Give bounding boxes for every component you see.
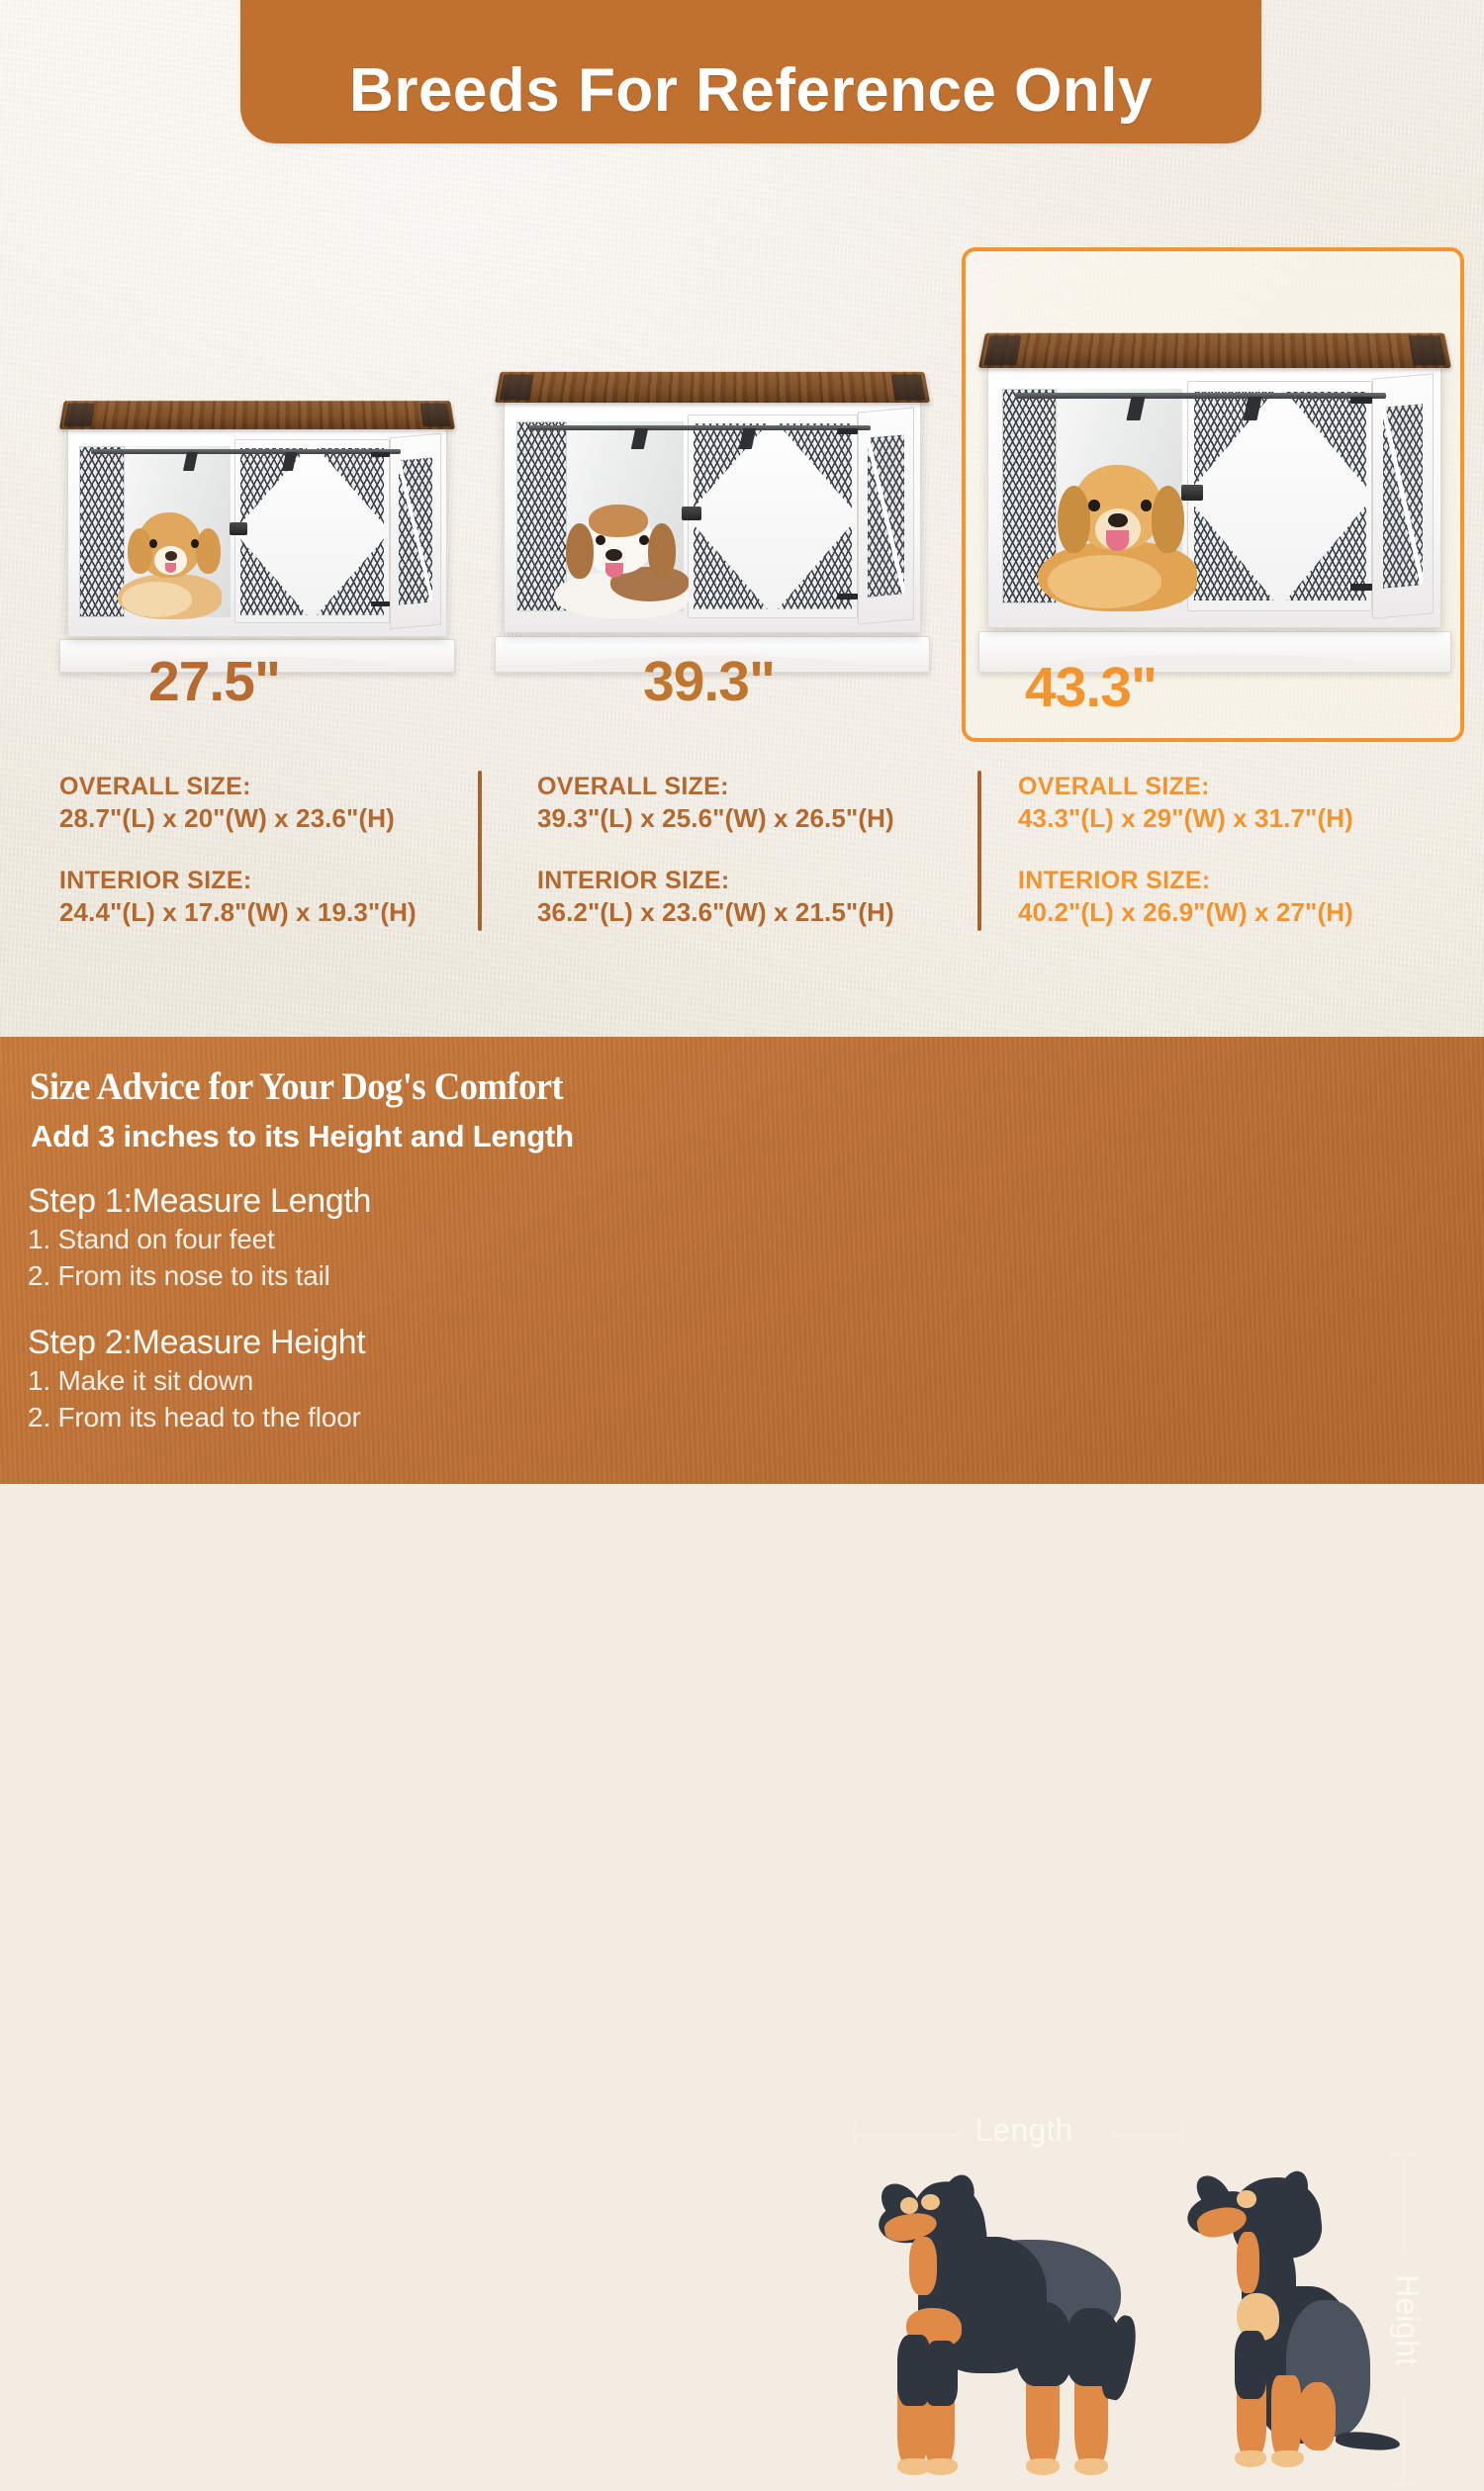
hinge-icon [1350,397,1373,403]
step-1-line-1: 1. Stand on four feet [28,1221,371,1257]
overall-size-title-2: OVERALL SIZE: [1018,772,1353,802]
dog-photo-beagle [554,503,696,618]
interior-size-dims-2: 40.2"(L) x 26.9"(W) x 27"(H) [1018,896,1353,928]
product-size-comparison-row [0,247,1484,673]
product-card-1[interactable] [490,247,935,673]
wood-tabletop-icon [59,401,455,428]
side-end-door [390,433,441,629]
barn-door-rail [91,449,401,454]
doberman-sitting-illustration [1162,2150,1410,2491]
dog-crate-illustration-1 [495,366,930,673]
mesh-quadrant [240,539,308,615]
mesh-quadrant [694,524,768,608]
size-label-1: 39.3" [643,649,775,714]
overall-size-dims-0: 28.7"(L) x 20"(W) x 23.6"(H) [59,802,417,834]
side-end-door [858,408,914,625]
mesh-quadrant [778,423,852,507]
mesh-quadrant [1285,392,1366,488]
latch-icon [230,522,248,535]
advice-subtitle: Add 3 inches to its Height and Length [31,1119,574,1154]
hinge-icon [1350,584,1373,590]
mesh-quadrant [694,423,768,507]
spec-block-0: OVERALL SIZE: 28.7"(L) x 20"(W) x 23.6"(… [59,772,417,928]
overall-size-title-1: OVERALL SIZE: [537,772,894,802]
dog-photo-small [118,510,232,619]
product-card-0[interactable] [40,247,475,673]
dog-photo-golden-retriever [1038,465,1200,611]
spec-divider-0 [478,771,482,931]
advice-title: Size Advice for Your Dog's Comfort [30,1064,563,1109]
dimension-line [1111,2133,1182,2136]
side-end-door [1372,373,1434,618]
dimension-line [855,2133,962,2136]
mesh-quadrant [1194,506,1275,601]
mesh-quadrant [240,448,308,524]
sliding-barn-door [688,415,858,618]
interior-size-dims-0: 24.4"(L) x 17.8"(W) x 19.3"(H) [59,896,417,928]
dog-crate-illustration-0 [59,396,455,673]
hinge-icon [837,428,858,434]
product-card-2[interactable] [970,247,1459,673]
interior-size-dims-1: 36.2"(L) x 23.6"(W) x 21.5"(H) [537,896,894,928]
header-banner: Breeds For Reference Only [240,0,1261,143]
crate-body [504,400,921,633]
interior-size-title-1: INTERIOR SIZE: [537,866,894,896]
barn-door-rail [1015,393,1386,399]
step-2-line-1: 1. Make it sit down [28,1362,365,1399]
step-2-line-2: 2. From its head to the floor [28,1399,365,1435]
advice-step-1: Step 1:Measure Length 1. Stand on four f… [28,1182,371,1294]
wood-tabletop-icon [495,372,930,403]
size-label-0: 27.5" [148,649,280,714]
overall-size-dims-2: 43.3"(L) x 29"(W) x 31.7"(H) [1018,802,1353,834]
length-dimension-guide: Length [853,2121,1184,2157]
diagonal-brace [1383,404,1424,589]
mesh-quadrant [1194,392,1275,488]
spec-block-2: OVERALL SIZE: 43.3"(L) x 29"(W) x 31.7"(… [1018,772,1353,928]
interior-size-title-0: INTERIOR SIZE: [59,866,417,896]
interior-size-title-2: INTERIOR SIZE: [1018,866,1353,896]
length-label: Length [970,2112,1078,2149]
spec-block-1: OVERALL SIZE: 39.3"(L) x 25.6"(W) x 26.5… [537,772,894,928]
sliding-barn-door [1187,381,1372,610]
dimension-endcap-icon [1181,2121,1184,2147]
hinge-icon [837,594,858,600]
overall-size-title-0: OVERALL SIZE: [59,772,417,802]
mesh-quadrant [317,448,384,524]
size-label-2: 43.3" [1025,655,1157,720]
doberman-standing-illustration [851,2165,1158,2491]
step-1-line-2: 2. From its nose to its tail [28,1257,371,1294]
diagonal-brace [868,434,904,598]
spec-divider-1 [977,771,981,931]
dog-crate-illustration-2 [978,326,1451,673]
sliding-barn-door [234,439,390,623]
hinge-icon [371,601,390,606]
wood-tabletop-icon [978,333,1451,368]
step-2-heading: Step 2:Measure Height [28,1324,365,1362]
crate-body [67,426,447,637]
crate-body [987,365,1441,628]
banner-title: Breeds For Reference Only [349,55,1153,126]
hinge-icon [371,452,390,457]
diagonal-brace [399,458,432,605]
advice-step-2: Step 2:Measure Height 1. Make it sit dow… [28,1324,365,1435]
barn-door-rail [529,425,871,430]
step-1-heading: Step 1:Measure Length [28,1182,371,1221]
overall-size-dims-1: 39.3"(L) x 25.6"(W) x 26.5"(H) [537,802,894,834]
